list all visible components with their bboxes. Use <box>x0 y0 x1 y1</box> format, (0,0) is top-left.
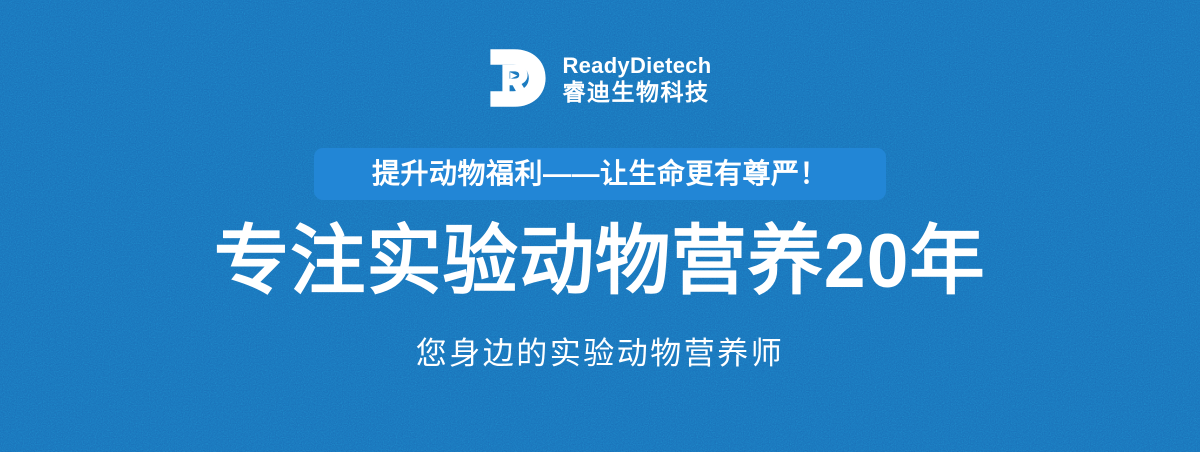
tagline-badge: 提升动物福利——让生命更有尊严！ <box>314 148 886 200</box>
brand-logo-lockup: ReadyDietech 睿迪生物科技 <box>0 48 1200 108</box>
subtitle-container: 您身边的实验动物营养师 <box>0 333 1200 375</box>
tagline-badge-container: 提升动物福利——让生命更有尊严！ <box>0 148 1200 200</box>
brand-name-chinese: 睿迪生物科技 <box>562 79 709 105</box>
ready-dietech-d-monogram-icon <box>488 48 548 108</box>
promotional-banner: ReadyDietech 睿迪生物科技 提升动物福利——让生命更有尊严！ 专注实… <box>0 0 1200 452</box>
page-subtitle: 您身边的实验动物营养师 <box>416 333 785 375</box>
tagline-badge-text: 提升动物福利——让生命更有尊严！ <box>372 159 828 189</box>
brand-name-latin: ReadyDietech <box>562 54 711 78</box>
headline-container: 专注实验动物营养20年 <box>0 219 1200 305</box>
page-title: 专注实验动物营养20年 <box>214 219 986 305</box>
brand-logo-text: ReadyDietech 睿迪生物科技 <box>562 52 711 105</box>
